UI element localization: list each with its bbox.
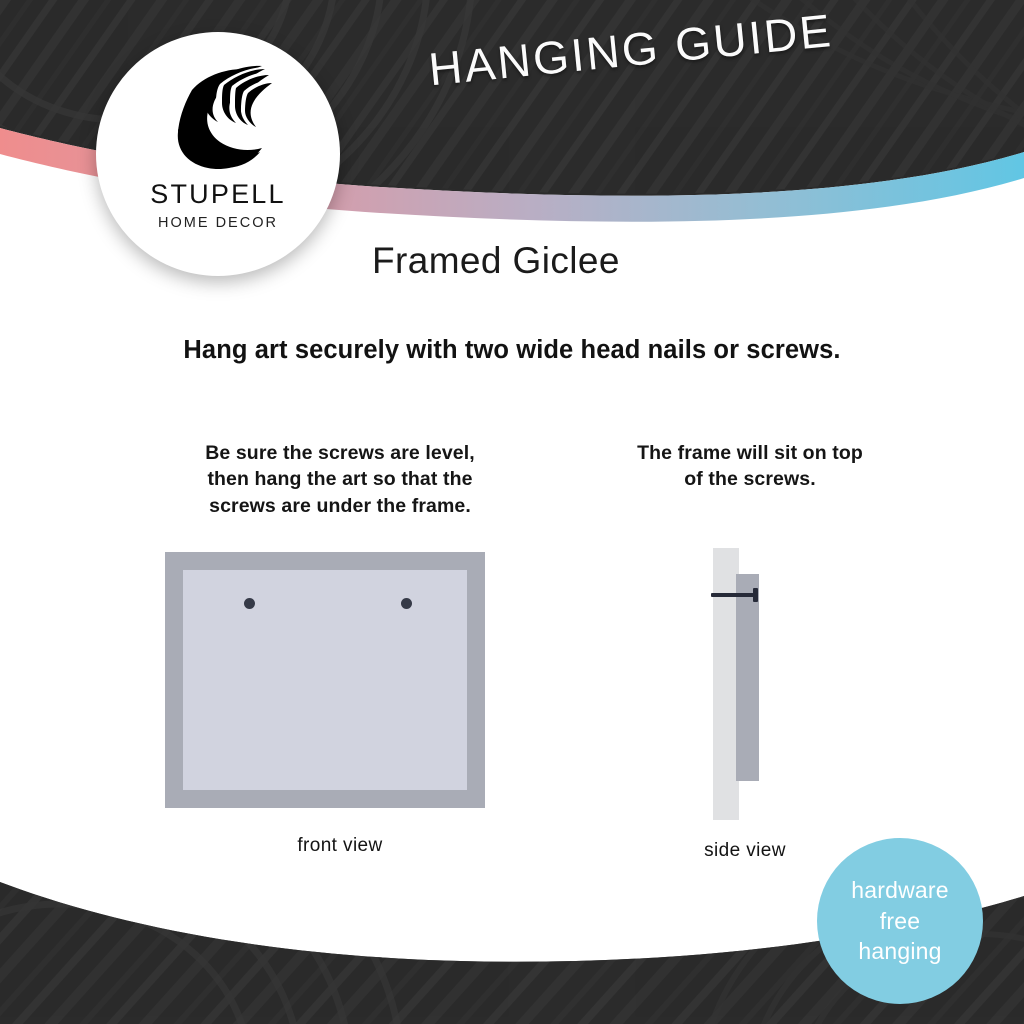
front-caption-line-3: screws are under the frame. bbox=[140, 493, 540, 519]
front-view-frame-inner bbox=[183, 570, 467, 790]
logo-subwordmark: HOME DECOR bbox=[158, 216, 278, 231]
badge-line-2: free bbox=[880, 906, 920, 936]
badge-line-3: hanging bbox=[858, 936, 941, 966]
front-view-label: front view bbox=[140, 835, 540, 857]
lead-instruction: Hang art securely with two wide head nai… bbox=[0, 336, 1024, 365]
side-view-frame bbox=[736, 574, 759, 781]
diagram-columns: Be sure the screws are level, then hang … bbox=[0, 440, 1024, 890]
screw-dot-left-icon bbox=[244, 598, 255, 609]
product-title: Framed Giclee bbox=[372, 240, 620, 282]
stupell-swirl-icon bbox=[158, 60, 278, 175]
side-view-caption: The frame will sit on top of the screws. bbox=[580, 440, 920, 493]
side-caption-line-2: of the screws. bbox=[580, 466, 920, 492]
side-view-column: The frame will sit on top of the screws.… bbox=[580, 440, 920, 493]
screw-dot-right-icon bbox=[401, 598, 412, 609]
front-caption-line-2: then hang the art so that the bbox=[140, 466, 540, 492]
hardware-free-hanging-badge: hardware free hanging bbox=[817, 838, 983, 1004]
logo-badge: STUPELL HOME DECOR bbox=[96, 32, 340, 276]
hanging-guide-page: HANGING GUIDE S bbox=[0, 0, 1024, 1024]
front-view-frame-diagram bbox=[165, 552, 485, 808]
side-caption-line-1: The frame will sit on top bbox=[580, 440, 920, 466]
front-view-column: Be sure the screws are level, then hang … bbox=[140, 440, 540, 519]
nail-head-icon bbox=[753, 588, 758, 602]
side-view-diagram bbox=[705, 544, 805, 834]
badge-line-1: hardware bbox=[851, 875, 949, 905]
front-view-caption: Be sure the screws are level, then hang … bbox=[140, 440, 540, 519]
front-caption-line-1: Be sure the screws are level, bbox=[140, 440, 540, 466]
nail-shaft-icon bbox=[711, 593, 756, 597]
logo-wordmark: STUPELL bbox=[150, 181, 285, 208]
